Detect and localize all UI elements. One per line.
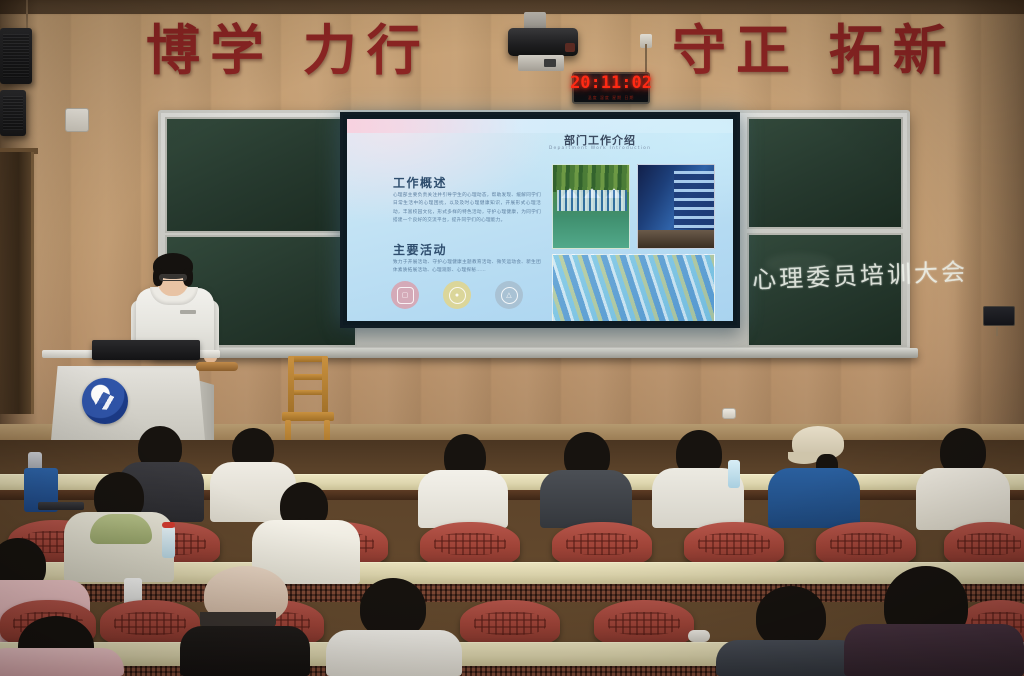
cloud-badge-icon: △: [495, 281, 523, 309]
university-emblem: [82, 378, 128, 424]
slide-photo-building-night: [637, 164, 715, 249]
tent-shape-icon: [583, 188, 601, 198]
speaker-grille-icon: [3, 34, 29, 78]
audience-head: [360, 578, 426, 638]
clock-cable: [645, 44, 647, 74]
tent-shape-icon: [561, 188, 579, 198]
audience-torso: [768, 468, 860, 528]
lightbulb-glyph-icon: ●: [449, 287, 466, 304]
slide-photo-group-outdoor: [552, 164, 630, 249]
chair-post-right: [322, 356, 328, 416]
slide-section1-heading: 工作概述: [393, 174, 447, 191]
led-digital-clock: 20:11:02 温度 湿度 星期 日期: [572, 72, 650, 104]
laptop-device: [38, 502, 84, 510]
stage-wooden-chair[interactable]: [282, 356, 334, 452]
bottle-cap: [162, 522, 175, 528]
audience-collar: [90, 514, 152, 544]
audience-torso: [916, 468, 1010, 530]
portrait-glyph-icon: ▢: [397, 287, 414, 304]
audience-chair[interactable]: [684, 522, 784, 566]
chalkboard-panel-left-upper: [165, 117, 357, 233]
ceiling-projector: [508, 28, 578, 56]
clock-time-display: 20:11:02: [570, 75, 652, 92]
audience-torso: [0, 648, 124, 676]
tent-shape-icon: [605, 188, 623, 198]
audience-chair[interactable]: [460, 600, 560, 646]
audience-torso: [180, 626, 310, 676]
audience-chair[interactable]: [594, 600, 694, 646]
projector-lens-icon: [565, 43, 575, 52]
chalk-tray: [152, 348, 918, 358]
wall-speaker-upper: [0, 28, 32, 84]
lightbulb-badge-icon: ●: [443, 281, 471, 309]
audience-chair[interactable]: [420, 522, 520, 566]
audience-torso: [418, 470, 508, 528]
clock-subdisplay: 温度 湿度 星期 日期: [588, 95, 635, 101]
slide-subtitle: Department Work Introduction: [530, 146, 670, 151]
audience-torso: [540, 470, 632, 528]
wall-slogan-right: 守正 拓新: [672, 24, 957, 78]
water-bottle: [728, 460, 740, 488]
wall-switch-plate[interactable]: [65, 108, 89, 132]
glasses-icon: [159, 274, 187, 281]
audience-chair[interactable]: [944, 522, 1024, 566]
speaker-grille-icon: [3, 96, 23, 130]
water-bottle: [162, 526, 175, 558]
slide-icon-row: ▢ ● △: [391, 281, 523, 309]
hoodie-logo: [180, 310, 196, 314]
slide-section1-body: 心理部主要负责关注并引导学生的心理动态，帮助发现、缓解同学们日常生活中的心理困扰…: [393, 192, 541, 226]
chalkboard-panel-right-upper: [747, 117, 903, 229]
chair-post-left: [288, 356, 294, 416]
wall-control-panel[interactable]: [983, 306, 1015, 326]
wall-outlet-plate[interactable]: [722, 408, 736, 419]
audience-chair[interactable]: [816, 522, 916, 566]
slide-section2-body: 致力于开展活动、守护心理健康主题教育活动、微笑运动会、新生团体素质拓展活动、心理…: [393, 259, 541, 276]
classroom-presentation-scene: 博学 力行 守正 拓新 20:11:02 温度 湿度 星期 日期 心理委员培训大…: [0, 0, 1024, 676]
portrait-badge-icon: ▢: [391, 281, 419, 309]
audience-torso: [716, 640, 862, 676]
podium-monitor[interactable]: [92, 340, 200, 360]
presentation-slide: 部门工作介绍 Department Work Introduction 工作概述…: [347, 119, 733, 321]
eraser-object: [688, 630, 710, 642]
wall-slogan-left: 博学 力行: [146, 24, 431, 78]
cloud-glyph-icon: △: [501, 287, 518, 304]
slide-photo-art-activity: [552, 254, 715, 321]
wall-speaker-lower: [0, 90, 26, 136]
audience-torso: [844, 624, 1024, 676]
audience-torso: [326, 630, 462, 676]
podium-wood-trim: [196, 362, 238, 371]
wall-right-shading: [954, 0, 1024, 456]
projector-bracket: [518, 55, 564, 71]
slide-decor-strip: [347, 119, 733, 133]
projection-screen: 部门工作介绍 Department Work Introduction 工作概述…: [340, 112, 740, 328]
audience-chair[interactable]: [552, 522, 652, 566]
wall-top-shadow: [0, 0, 1024, 16]
side-door[interactable]: [0, 152, 34, 414]
audience-seating-area: [0, 440, 1024, 676]
slide-section2-heading: 主要活动: [393, 241, 447, 258]
